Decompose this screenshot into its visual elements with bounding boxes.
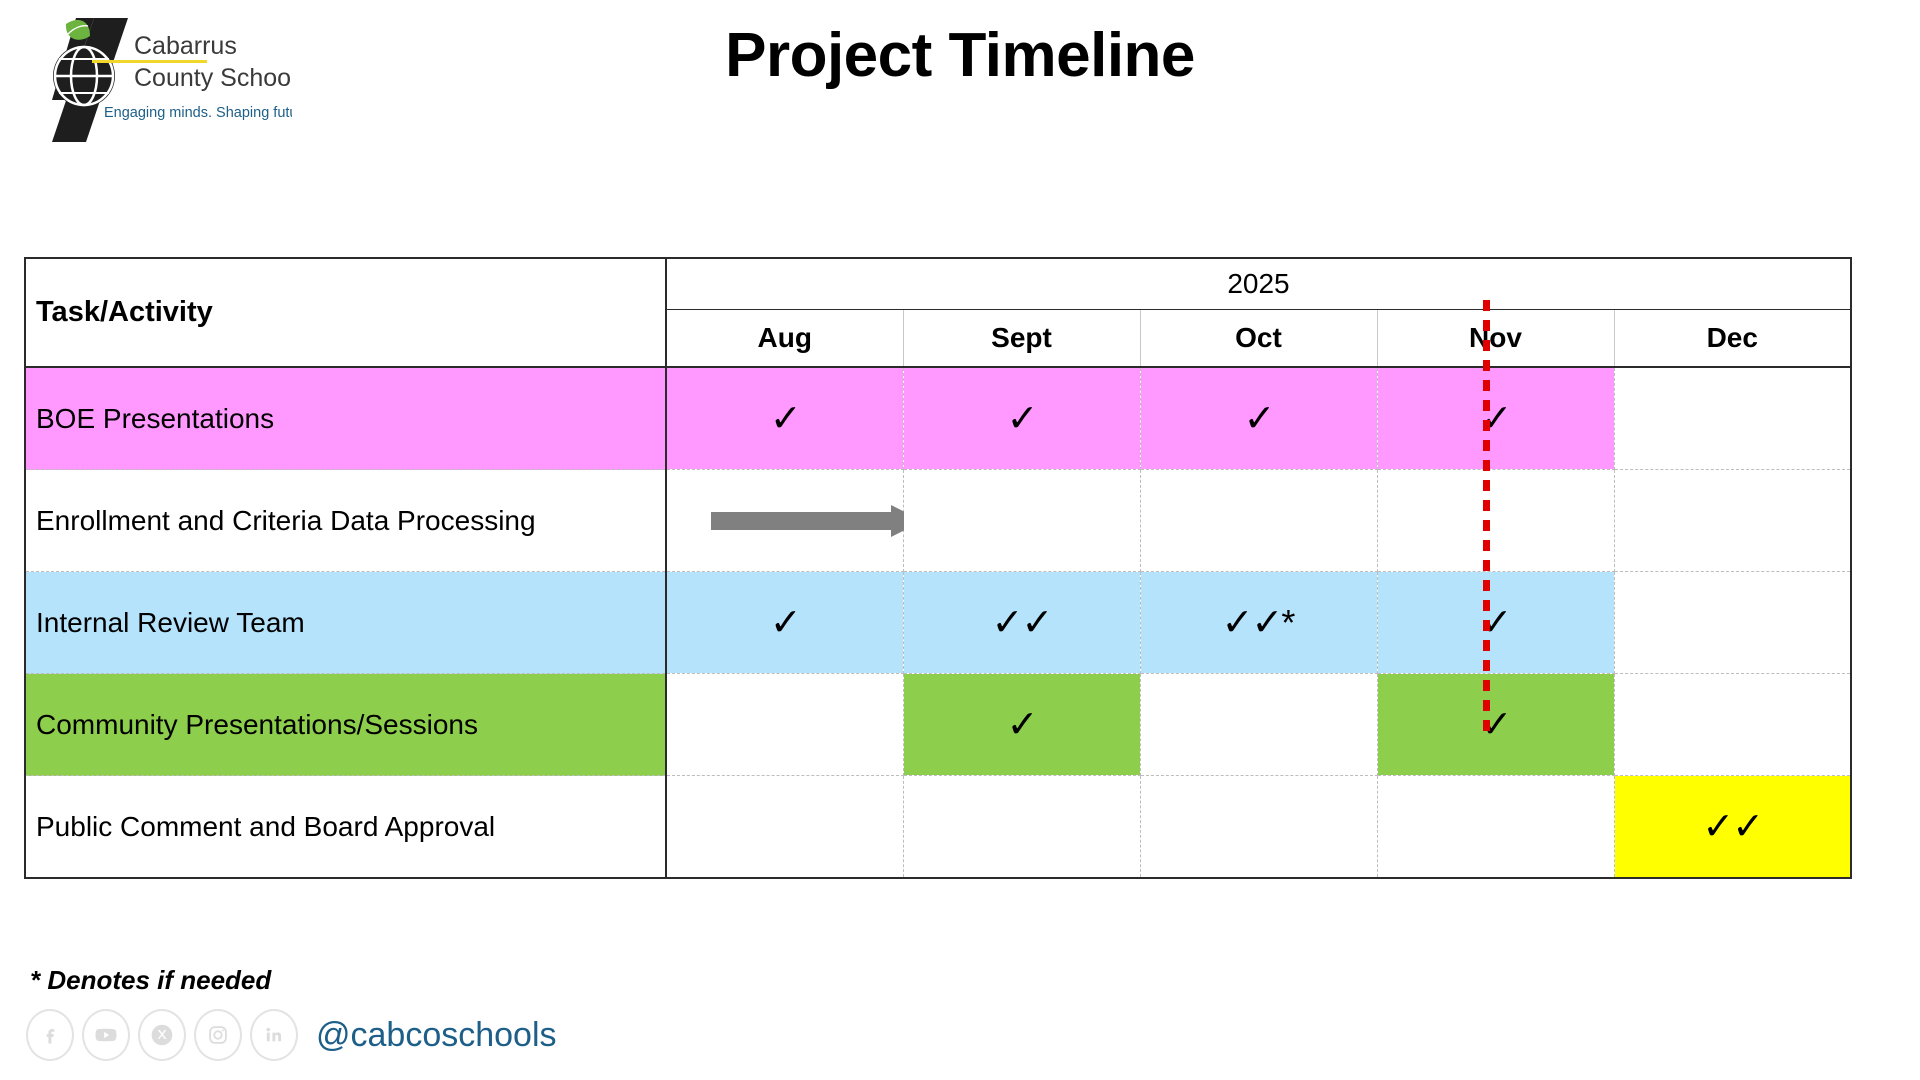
month-header-nov: Nov <box>1377 310 1614 368</box>
row-label-public-comment-board-approval: Public Comment and Board Approval <box>25 776 666 879</box>
cell-enrollment-aug <box>666 470 903 572</box>
checkmark: ✓ <box>1244 398 1274 440</box>
footnote-text: * Denotes if needed <box>30 965 271 996</box>
cell-review-aug: ✓ <box>666 572 903 674</box>
cell-boe-dec <box>1614 367 1851 470</box>
project-timeline-table: Task/Activity 2025 Aug Sept Oct Nov Dec … <box>24 257 1852 879</box>
month-header-aug: Aug <box>666 310 903 368</box>
table-row: BOE Presentations ✓ ✓ ✓ ✓ <box>25 367 1851 470</box>
social-media-bar: @cabcoschools <box>26 1005 557 1065</box>
row-label-community-presentations: Community Presentations/Sessions <box>25 674 666 776</box>
cell-review-oct: ✓✓* <box>1140 572 1377 674</box>
checkmark: ✓ <box>770 602 800 644</box>
cell-enrollment-nov <box>1377 470 1614 572</box>
table-row: Enrollment and Criteria Data Processing <box>25 470 1851 572</box>
cell-public-oct <box>1140 776 1377 879</box>
cell-community-dec <box>1614 674 1851 776</box>
checkmark: ✓ <box>770 398 800 440</box>
cell-community-nov: ✓ <box>1377 674 1614 776</box>
logo-tagline: Engaging minds. Shaping futures. <box>104 105 292 121</box>
table-row: Community Presentations/Sessions ✓ ✓ <box>25 674 1851 776</box>
row-label-enrollment-data-processing: Enrollment and Criteria Data Processing <box>25 470 666 572</box>
cell-public-dec: ✓✓ <box>1614 776 1851 879</box>
checkmark: ✓✓ <box>1222 602 1282 644</box>
cell-community-aug <box>666 674 903 776</box>
cell-public-aug <box>666 776 903 879</box>
cell-enrollment-sept <box>903 470 1140 572</box>
cell-enrollment-oct <box>1140 470 1377 572</box>
row-label-internal-review-team: Internal Review Team <box>25 572 666 674</box>
cell-public-sept <box>903 776 1140 879</box>
cell-boe-nov: ✓ <box>1377 367 1614 470</box>
table-row: Internal Review Team ✓ ✓✓ ✓✓* ✓ <box>25 572 1851 674</box>
cell-community-sept: ✓ <box>903 674 1140 776</box>
linkedin-icon[interactable] <box>250 1009 298 1061</box>
checkmark: ✓ <box>1481 398 1511 440</box>
cell-review-nov: ✓ <box>1377 572 1614 674</box>
cell-community-oct <box>1140 674 1377 776</box>
checkmark: ✓✓ <box>992 602 1052 644</box>
month-header-sept: Sept <box>903 310 1140 368</box>
table-row: Public Comment and Board Approval ✓✓ <box>25 776 1851 879</box>
checkmark: ✓ <box>1481 602 1511 644</box>
cell-boe-aug: ✓ <box>666 367 903 470</box>
footnote-asterisk: * <box>1281 602 1295 643</box>
x-icon[interactable] <box>138 1009 186 1061</box>
cell-enrollment-dec <box>1614 470 1851 572</box>
cell-public-nov <box>1377 776 1614 879</box>
month-header-dec: Dec <box>1614 310 1851 368</box>
checkmark: ✓✓ <box>1702 806 1762 848</box>
checkmark: ✓ <box>1481 704 1511 746</box>
task-activity-header: Task/Activity <box>25 258 666 367</box>
checkmark: ✓ <box>1007 704 1037 746</box>
cell-boe-sept: ✓ <box>903 367 1140 470</box>
table-header-year-row: Task/Activity 2025 <box>25 258 1851 310</box>
year-header: 2025 <box>666 258 1851 310</box>
cell-boe-oct: ✓ <box>1140 367 1377 470</box>
checkmark: ✓ <box>1007 398 1037 440</box>
page-title: Project Timeline <box>0 22 1920 90</box>
month-header-oct: Oct <box>1140 310 1377 368</box>
cell-review-sept: ✓✓ <box>903 572 1140 674</box>
instagram-icon[interactable] <box>194 1009 242 1061</box>
youtube-icon[interactable] <box>82 1009 130 1061</box>
facebook-icon[interactable] <box>26 1009 74 1061</box>
cell-review-dec <box>1614 572 1851 674</box>
social-handle-text: @cabcoschools <box>316 1016 557 1055</box>
row-label-boe-presentations: BOE Presentations <box>25 367 666 470</box>
